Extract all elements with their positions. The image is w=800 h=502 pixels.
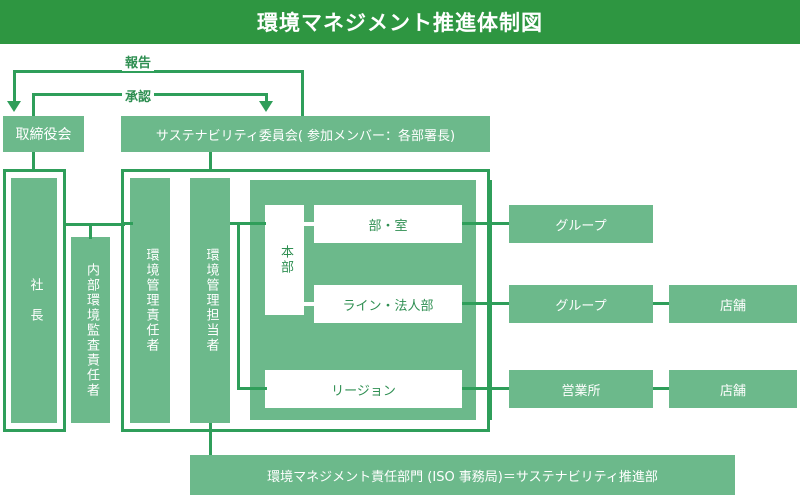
branch-stub-group1 (462, 222, 512, 225)
board-drop-line (32, 152, 35, 170)
report-line-horizontal (13, 70, 304, 73)
node-sales-office[interactable]: 営業所 (509, 370, 653, 408)
hq-to-line-connector (304, 302, 314, 306)
bottom-feed-vertical (209, 423, 212, 456)
node-store-1[interactable]: 店舗 (669, 285, 797, 323)
env-manager-bus-line (121, 222, 133, 225)
page-title-bar: 環境マネジメント推進体制図 (0, 0, 800, 44)
node-bottom-bar[interactable]: 環境マネジメント責任部門 (ISO 事務局)＝サステナビリティ推進部 (190, 455, 735, 495)
env-officer-bus-vertical (237, 222, 240, 390)
report-arrow-head (7, 101, 21, 112)
committee-drop-line (209, 152, 212, 170)
president-to-audit-line (63, 223, 125, 226)
node-headquarters-label: 本部 (277, 245, 292, 275)
node-internal-audit-label: 内部環境監査責任者 (83, 263, 98, 398)
center-block-feed-dept (237, 222, 257, 225)
report-label: 報告 (122, 52, 154, 71)
node-env-manager[interactable]: 環境管理責任者 (130, 178, 170, 423)
center-block-feed-region (237, 387, 267, 390)
approval-label: 承認 (122, 86, 154, 105)
right-trunk-vertical (489, 180, 492, 420)
hq-to-dept-connector (304, 222, 314, 226)
org-chart-diagram: 環境マネジメント推進体制図 報告 承認 取締役会 サステナビリティ委員会( 参加… (0, 0, 800, 502)
branch-stub-sales (462, 387, 512, 390)
node-region[interactable]: リージョン (265, 370, 462, 408)
page-title: 環境マネジメント推進体制図 (257, 7, 543, 37)
node-headquarters[interactable]: 本部 (265, 205, 304, 315)
node-env-manager-label: 環境管理責任者 (143, 248, 158, 353)
node-store-2[interactable]: 店舗 (669, 370, 797, 408)
node-group-1[interactable]: グループ (509, 205, 653, 243)
node-committee[interactable]: サステナビリティ委員会( 参加メンバー：各部署長) (121, 116, 490, 152)
node-board[interactable]: 取締役会 (3, 116, 84, 152)
node-internal-audit[interactable]: 内部環境監査責任者 (71, 237, 110, 423)
node-president[interactable]: 社 長 (11, 178, 57, 423)
approval-arrow-head (259, 101, 273, 112)
node-group-2[interactable]: グループ (509, 285, 653, 323)
branch-stub-group2 (462, 302, 512, 305)
node-dept-room[interactable]: 部・室 (314, 205, 462, 243)
approval-line-vertical-left (32, 93, 35, 118)
node-president-label: 社 長 (27, 278, 42, 323)
node-line-corp[interactable]: ライン・法人部 (314, 285, 462, 323)
node-env-officer-label: 環境管理担当者 (203, 248, 218, 353)
node-env-officer[interactable]: 環境管理担当者 (190, 178, 230, 423)
sales-to-store2-connector (653, 387, 669, 390)
group2-to-store1-connector (653, 302, 669, 305)
audit-drop-line (89, 223, 92, 239)
report-line-vertical-left (13, 70, 16, 103)
report-line-vertical-right (301, 70, 304, 118)
